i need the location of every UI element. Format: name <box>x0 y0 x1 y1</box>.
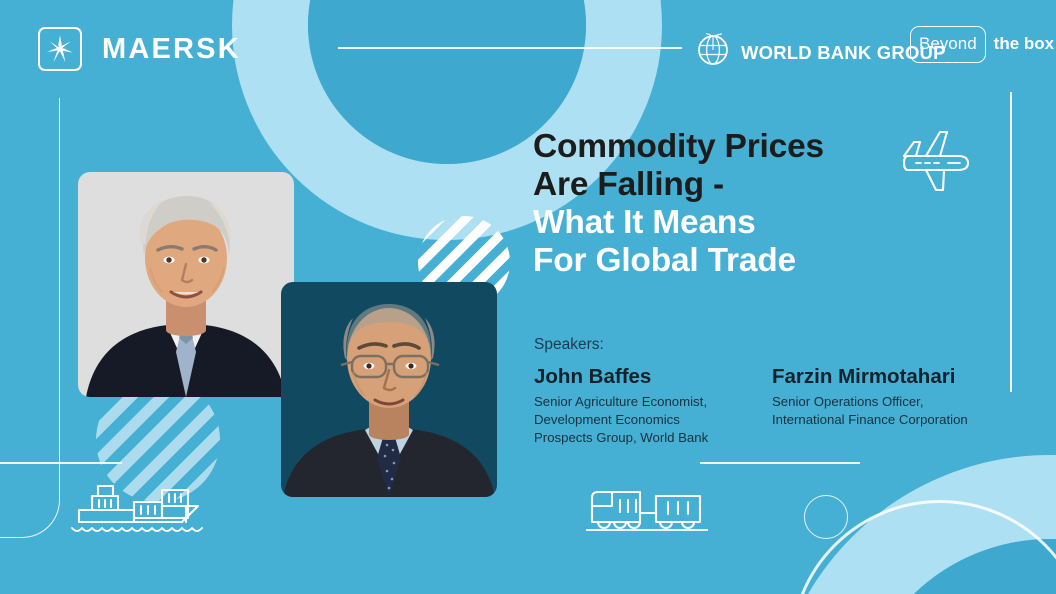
freight-train-icon <box>586 482 708 538</box>
title-line-1: Commodity Prices <box>533 128 824 166</box>
divider-line-right <box>1010 92 1012 392</box>
maersk-wordmark: MAERSK <box>102 33 241 66</box>
divider-line-top <box>338 47 682 49</box>
title-line-2: Are Falling - <box>533 166 824 204</box>
maersk-star-icon <box>38 27 82 71</box>
divider-line-bottom-left <box>0 462 122 464</box>
title-line-3: What It Means <box>533 204 824 242</box>
speaker-name: John Baffes <box>534 365 708 389</box>
globe-icon <box>695 32 731 73</box>
divider-line-bottom-right <box>700 462 860 464</box>
maersk-logo: MAERSK <box>38 27 241 71</box>
beyond-the-box-logo: Beyond the box <box>910 26 1054 63</box>
airplane-icon <box>900 128 976 194</box>
ring-bottom-right-decoration <box>770 455 1056 594</box>
arc-outline-decoration <box>790 500 1056 594</box>
speaker-block-farzin-mirmotahari: Farzin Mirmotahari Senior Operations Off… <box>772 365 968 429</box>
beyond-label: Beyond <box>919 34 977 54</box>
cargo-ship-icon <box>70 480 218 542</box>
beyond-box-outline: Beyond <box>910 26 986 63</box>
speaker-photo-farzin-mirmotahari <box>281 282 497 497</box>
ring-bottom-right-inner-disc <box>854 539 1056 594</box>
speaker-role: Senior Operations Officer, International… <box>772 394 968 427</box>
speaker-name: Farzin Mirmotahari <box>772 365 968 389</box>
title-line-4: For Global Trade <box>533 242 824 280</box>
speaker-photo-john-baffes <box>78 172 294 397</box>
webinar-promo-banner: MAERSK WORLD BANK GROUP Beyond the box <box>0 0 1056 594</box>
speaker-block-john-baffes: John Baffes Senior Agriculture Economist… <box>534 365 708 447</box>
world-bank-group-logo: WORLD BANK GROUP <box>695 32 946 73</box>
small-circle-outline-decoration <box>804 495 848 539</box>
speakers-label: Speakers: <box>534 336 604 354</box>
speaker-role: Senior Agriculture Economist, Developmen… <box>534 394 708 445</box>
corner-frame-bottom-left <box>0 98 60 538</box>
banner-title: Commodity Prices Are Falling - What It M… <box>533 128 824 279</box>
the-box-label: the box <box>994 26 1054 63</box>
